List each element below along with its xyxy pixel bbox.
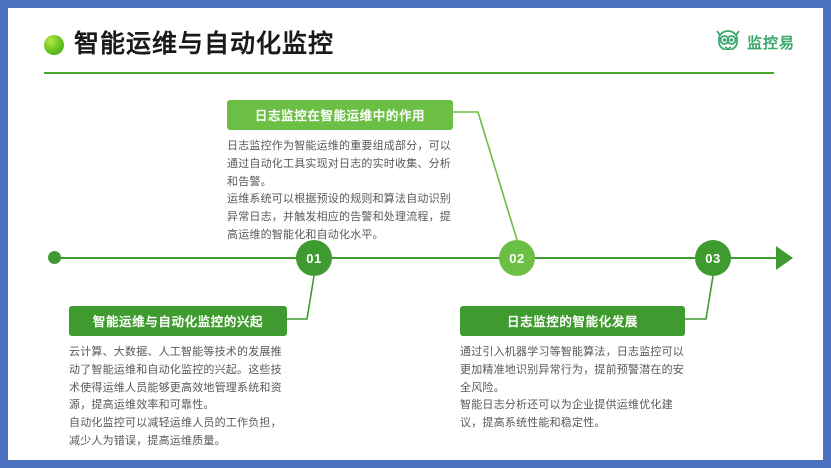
timeline-node-03[interactable]: 03	[695, 240, 731, 276]
bullet-sphere-icon	[44, 35, 64, 55]
card-body: 日志监控作为智能运维的重要组成部分，可以通过自动化工具实现对日志的实时收集、分析…	[227, 138, 453, 245]
card-body: 云计算、大数据、人工智能等技术的发展推动了智能运维和自动化监控的兴起。这些技术使…	[69, 344, 287, 451]
timeline-node-label: 03	[705, 251, 720, 266]
card-paragraph: 通过引入机器学习等智能算法，日志监控可以更加精准地识别异常行为，提前预警潜在的安…	[460, 344, 685, 397]
card-title: 日志监控在智能运维中的作用	[227, 100, 453, 130]
card-body: 通过引入机器学习等智能算法，日志监控可以更加精准地识别异常行为，提前预警潜在的安…	[460, 344, 685, 433]
page-title: 智能运维与自动化监控	[44, 32, 334, 57]
content-card-2: 智能运维与自动化监控的兴起 云计算、大数据、人工智能等技术的发展推动了智能运维和…	[69, 306, 287, 451]
title-divider	[44, 72, 774, 74]
content-card-3: 日志监控的智能化发展 通过引入机器学习等智能算法，日志监控可以更加精准地识别异常…	[460, 306, 685, 433]
card-paragraph: 日志监控作为智能运维的重要组成部分，可以通过自动化工具实现对日志的实时收集、分析…	[227, 138, 453, 191]
content-card-1: 日志监控在智能运维中的作用 日志监控作为智能运维的重要组成部分，可以通过自动化工…	[227, 100, 453, 245]
timeline-axis	[60, 257, 776, 259]
card-title: 智能运维与自动化监控的兴起	[69, 306, 287, 336]
timeline-node-01[interactable]: 01	[296, 240, 332, 276]
card-title: 日志监控的智能化发展	[460, 306, 685, 336]
timeline-arrow-icon	[776, 246, 793, 270]
brand-name-text: 监控易	[747, 32, 795, 53]
card-paragraph: 自动化监控可以减轻运维人员的工作负担，减少人为错误，提高运维质量。	[69, 415, 287, 451]
timeline-node-label: 01	[306, 251, 321, 266]
card-paragraph: 云计算、大数据、人工智能等技术的发展推动了智能运维和自动化监控的兴起。这些技术使…	[69, 344, 287, 415]
page-title-text: 智能运维与自动化监控	[74, 32, 334, 57]
slide-canvas: 智能运维与自动化监控 监控易 01 02	[8, 8, 823, 460]
timeline-node-label: 02	[509, 251, 524, 266]
owl-logo-icon	[715, 30, 741, 55]
card-paragraph: 智能日志分析还可以为企业提供运维优化建议，提高系统性能和稳定性。	[460, 397, 685, 433]
timeline-node-02[interactable]: 02	[499, 240, 535, 276]
brand-logo: 监控易	[715, 30, 795, 55]
card-paragraph: 运维系统可以根据预设的规则和算法自动识别异常日志，并触发相应的告警和处理流程，提…	[227, 191, 453, 244]
